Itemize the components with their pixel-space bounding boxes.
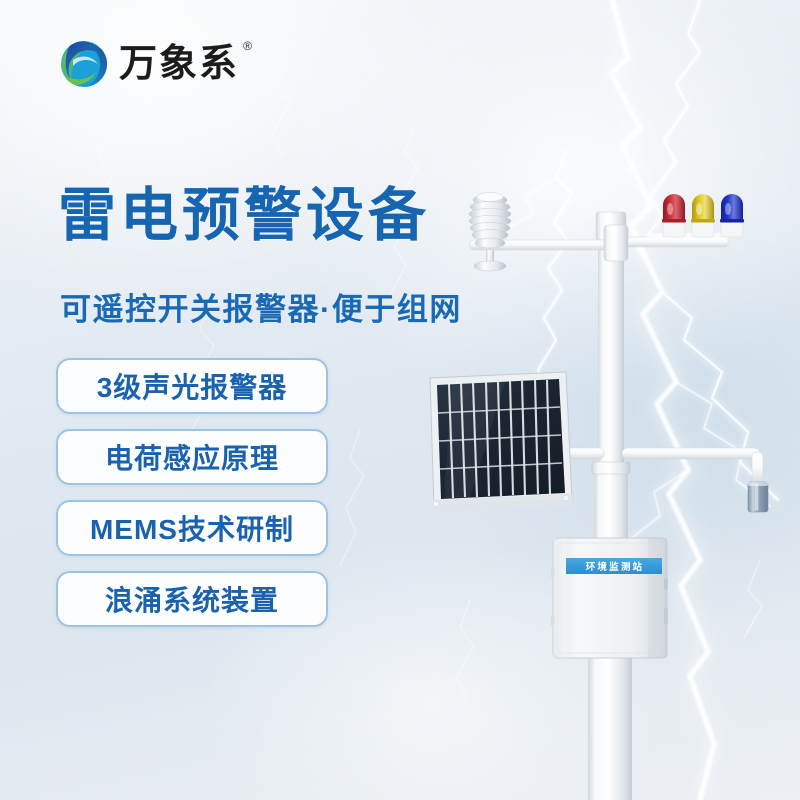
- feature-pill-2[interactable]: 电荷感应原理: [56, 429, 328, 485]
- swirl-sphere-logo-icon: [58, 38, 110, 90]
- page-subtitle: 可遥控开关报警器·便于组网: [60, 284, 462, 329]
- alarm-light-red: [662, 194, 686, 237]
- radiation-shield-sensor: [469, 193, 511, 272]
- feature-pill-4[interactable]: 浪涌系统装置: [56, 571, 328, 627]
- mast-pole: [586, 212, 634, 800]
- page-title: 雷电预警设备: [58, 186, 430, 247]
- cylindrical-sensor: [748, 482, 768, 512]
- solar-panel: [430, 372, 604, 512]
- control-enclosure: [551, 538, 668, 658]
- control-box-label: 环境监测站: [566, 558, 662, 574]
- alarm-light-yellow: [691, 194, 715, 237]
- brand-logo[interactable]: 万象系 ®: [58, 38, 239, 90]
- feature-pill-1[interactable]: 3级声光报警器: [56, 358, 328, 414]
- brand-name-text: 万象系: [119, 43, 239, 85]
- feature-pill-3[interactable]: MEMS技术研制: [56, 500, 328, 556]
- lower-sensor-arm: [622, 448, 763, 486]
- registered-trademark-icon: ®: [243, 40, 254, 52]
- feature-list: 3级声光报警器 电荷感应原理 MEMS技术研制 浪涌系统装置: [56, 358, 328, 627]
- product-poster: 环境监测站: [0, 0, 800, 800]
- alarm-light-blue: [720, 194, 744, 237]
- brand-name: 万象系 ®: [119, 45, 239, 83]
